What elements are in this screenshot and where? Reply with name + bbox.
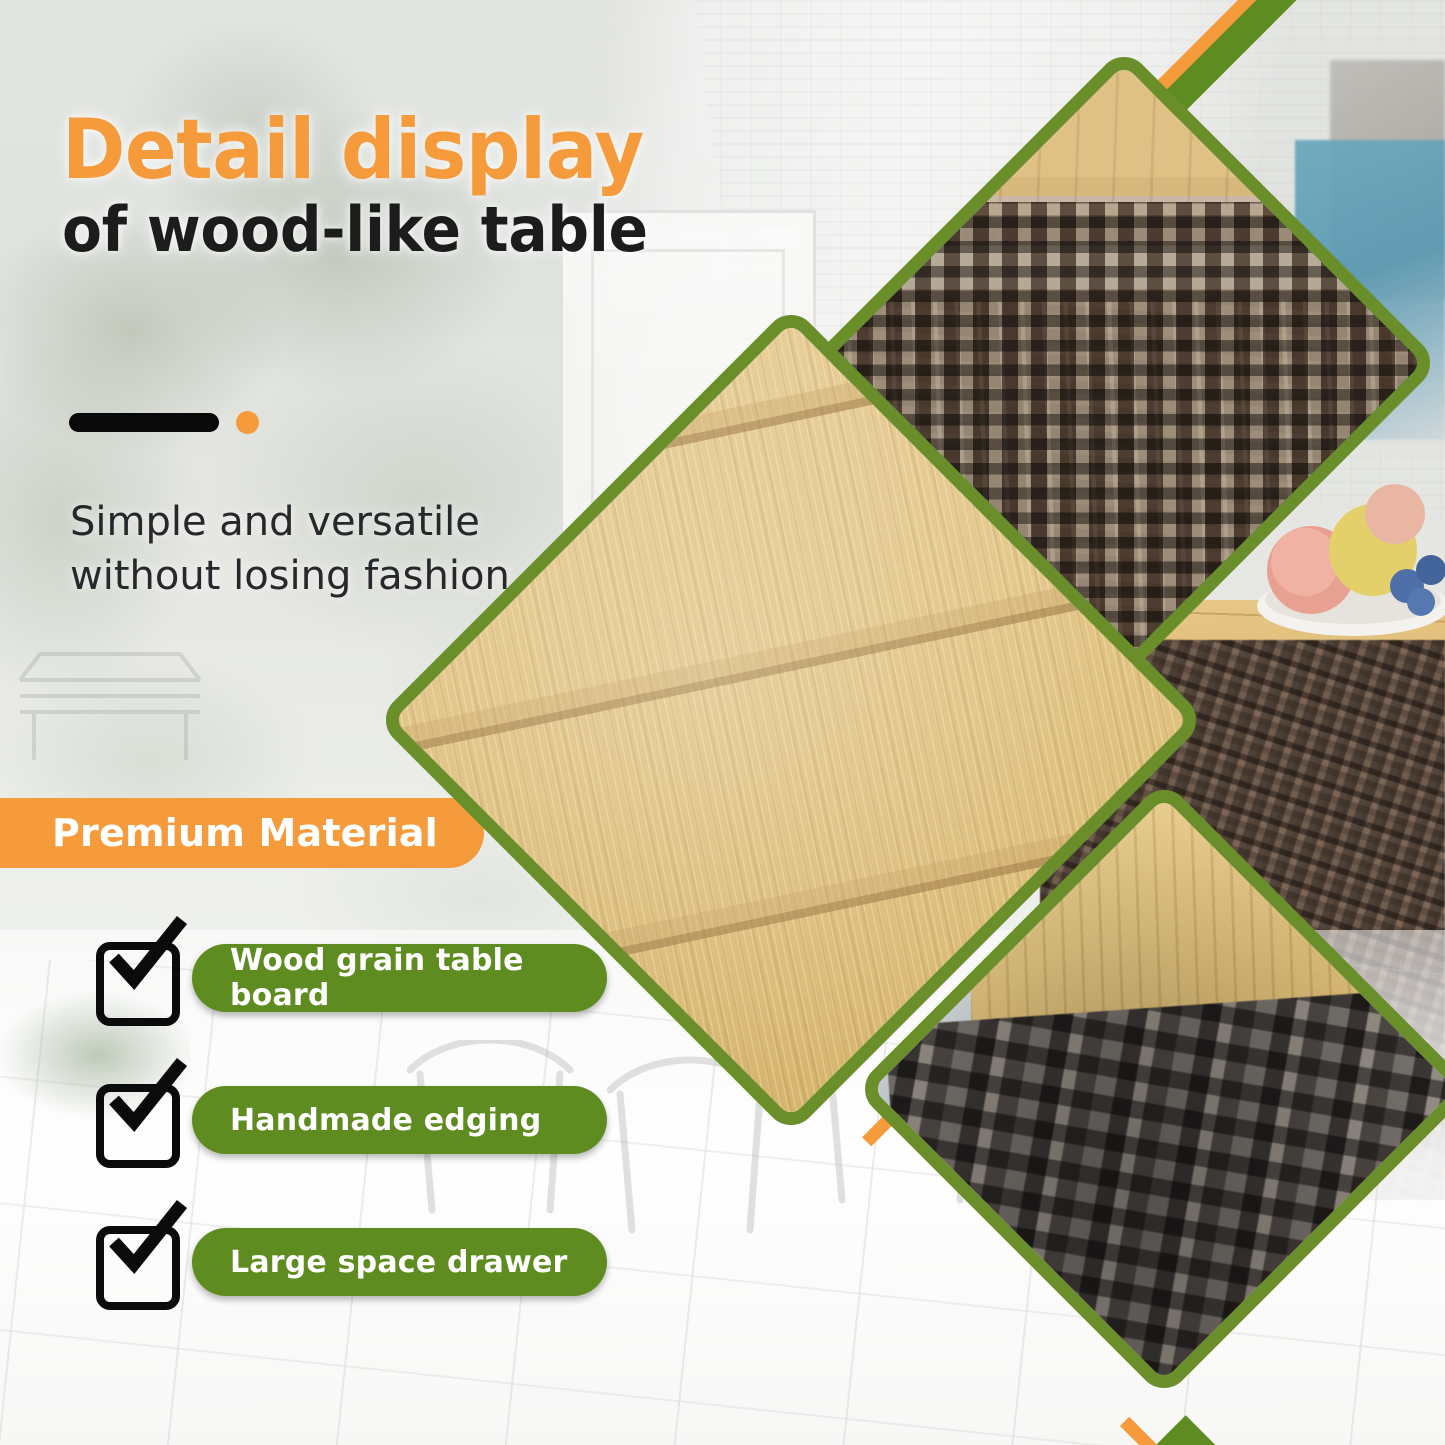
checkbox-icon xyxy=(96,1226,180,1310)
feature-label: Large space drawer xyxy=(230,1245,568,1280)
subtitle-line-2: without losing fashion xyxy=(70,549,510,603)
product-detail-poster: Detail display of wood-like table Simple… xyxy=(0,0,1445,1445)
feature-label: Wood grain table board xyxy=(230,943,607,1013)
feature-label: Handmade edging xyxy=(230,1103,541,1138)
divider-bar xyxy=(69,413,219,432)
divider-dot xyxy=(236,411,259,434)
page-title: Detail display of wood-like table xyxy=(62,108,694,261)
checkbox-icon xyxy=(96,942,180,1026)
banner-label: Premium Material xyxy=(52,811,438,855)
premium-material-banner: Premium Material xyxy=(0,798,484,868)
feature-pill: Handmade edging xyxy=(192,1086,607,1154)
checkbox-icon xyxy=(96,1084,180,1168)
headline-line-1: Detail display xyxy=(62,108,644,191)
divider xyxy=(69,411,259,434)
feature-pill: Large space drawer xyxy=(192,1228,607,1296)
headline-line-2: of wood-like table xyxy=(62,199,656,261)
background-bench xyxy=(10,640,210,770)
feature-pill: Wood grain table board xyxy=(192,944,607,1012)
subtitle-line-1: Simple and versatile xyxy=(70,495,510,549)
subtitle: Simple and versatile without losing fash… xyxy=(70,495,510,603)
